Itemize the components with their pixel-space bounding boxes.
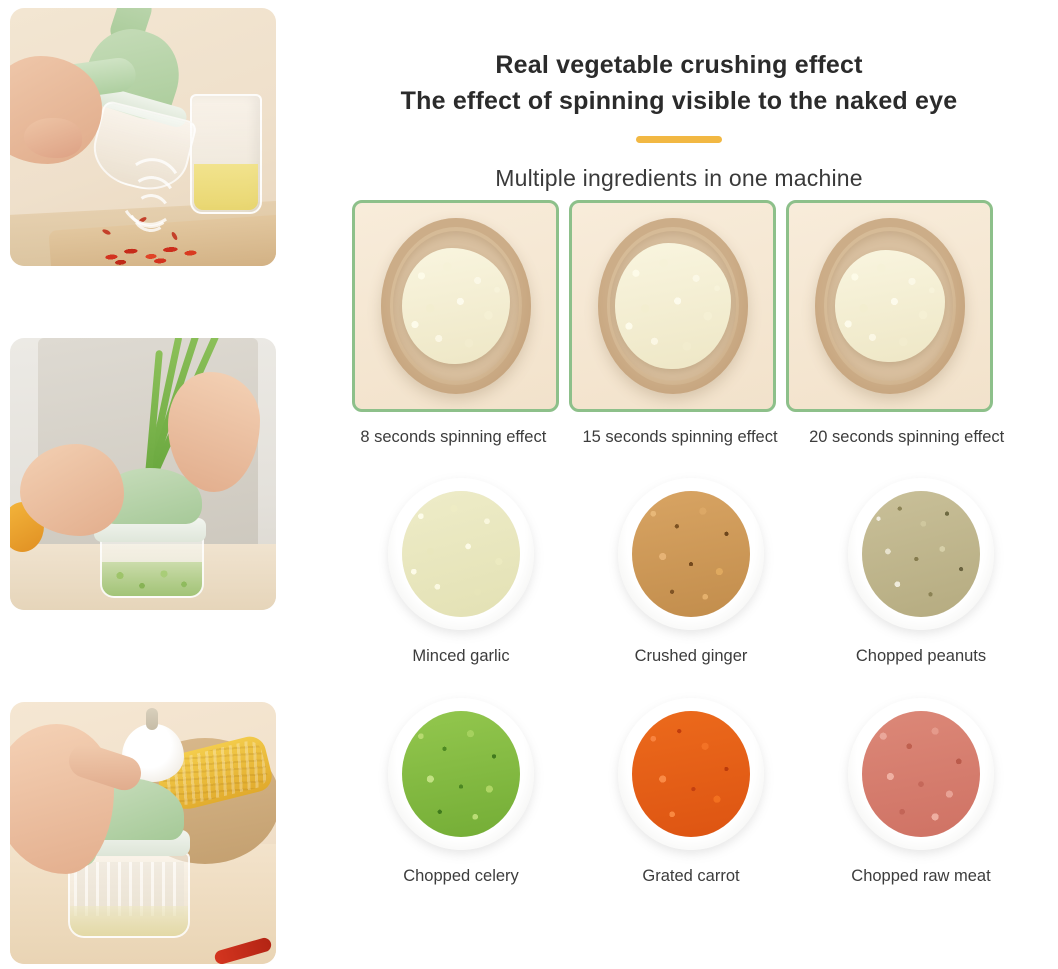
water-glass bbox=[190, 94, 262, 214]
product-photo-column bbox=[10, 8, 276, 963]
photo-2-scene bbox=[10, 338, 276, 610]
bowl bbox=[388, 698, 534, 850]
bowl-label: Chopped peanuts bbox=[806, 647, 1036, 666]
bowl-contents bbox=[632, 491, 750, 617]
bowl-label: Chopped raw meat bbox=[806, 867, 1036, 886]
photo-3-scene bbox=[10, 702, 276, 964]
chopped-raw-meat-texture bbox=[862, 711, 980, 837]
bowl-label: Minced garlic bbox=[346, 647, 576, 666]
subheadline: Multiple ingredients in one machine bbox=[300, 165, 1058, 192]
photo-chopper-with-garlic-and-corn bbox=[10, 702, 276, 964]
bowl bbox=[618, 478, 764, 630]
stage-caption-20s: 20 seconds spinning effect bbox=[793, 428, 1020, 447]
bowl-label: Chopped celery bbox=[346, 867, 576, 886]
grated-carrot-texture bbox=[632, 711, 750, 837]
stage-caption-row: 8 seconds spinning effect 15 seconds spi… bbox=[340, 428, 1020, 447]
bowl-contents bbox=[632, 711, 750, 837]
minced-garlic-texture bbox=[402, 491, 520, 617]
ingredient-bowl-grid: Minced garlic Crushed ginger Chopped pea… bbox=[346, 478, 1036, 886]
bowl-label: Grated carrot bbox=[576, 867, 806, 886]
chopped-celery-texture bbox=[402, 711, 520, 837]
photo-chopper-crushing-chili bbox=[10, 8, 276, 266]
stage-frame-15s bbox=[569, 200, 776, 412]
photo-chopper-chopping-scallions bbox=[10, 338, 276, 610]
hand-pressing-button bbox=[20, 444, 124, 536]
bowl bbox=[618, 698, 764, 850]
headline-line-1: Real vegetable crushing effect bbox=[300, 48, 1058, 84]
photo-1-scene bbox=[10, 8, 276, 266]
spinning-stage-gallery bbox=[352, 200, 993, 412]
bowl-contents bbox=[402, 711, 520, 837]
crushed-ginger-texture bbox=[632, 491, 750, 617]
chopper-blades bbox=[74, 862, 184, 916]
stage-caption-8s: 8 seconds spinning effect bbox=[340, 428, 567, 447]
headline-block: Real vegetable crushing effect The effec… bbox=[300, 0, 1058, 192]
bowl-cell-chopped-peanuts: Chopped peanuts bbox=[806, 478, 1036, 666]
stage-frame-20s bbox=[786, 200, 993, 412]
headline-line-2: The effect of spinning visible to the na… bbox=[300, 84, 1058, 120]
bowl bbox=[388, 478, 534, 630]
bowl-cell-chopped-celery: Chopped celery bbox=[346, 698, 576, 886]
bowl-row-2: Chopped celery Grated carrot Chopped raw… bbox=[346, 698, 1036, 886]
bowl-cell-crushed-ginger: Crushed ginger bbox=[576, 478, 806, 666]
bowl-contents bbox=[402, 491, 520, 617]
bowl-cell-chopped-raw-meat: Chopped raw meat bbox=[806, 698, 1036, 886]
bowl-cell-grated-carrot: Grated carrot bbox=[576, 698, 806, 886]
chopped-peanuts-texture bbox=[862, 491, 980, 617]
bowl-contents bbox=[862, 711, 980, 837]
bowl-cell-minced-garlic: Minced garlic bbox=[346, 478, 576, 666]
bowl-row-1: Minced garlic Crushed ginger Chopped pea… bbox=[346, 478, 1036, 666]
accent-divider bbox=[636, 136, 722, 143]
stage-caption-15s: 15 seconds spinning effect bbox=[567, 428, 794, 447]
info-panel: Real vegetable crushing effect The effec… bbox=[300, 0, 1058, 969]
stage-frame-8s bbox=[352, 200, 559, 412]
bowl bbox=[848, 478, 994, 630]
bowl bbox=[848, 698, 994, 850]
bowl-label: Crushed ginger bbox=[576, 647, 806, 666]
bowl-contents bbox=[862, 491, 980, 617]
